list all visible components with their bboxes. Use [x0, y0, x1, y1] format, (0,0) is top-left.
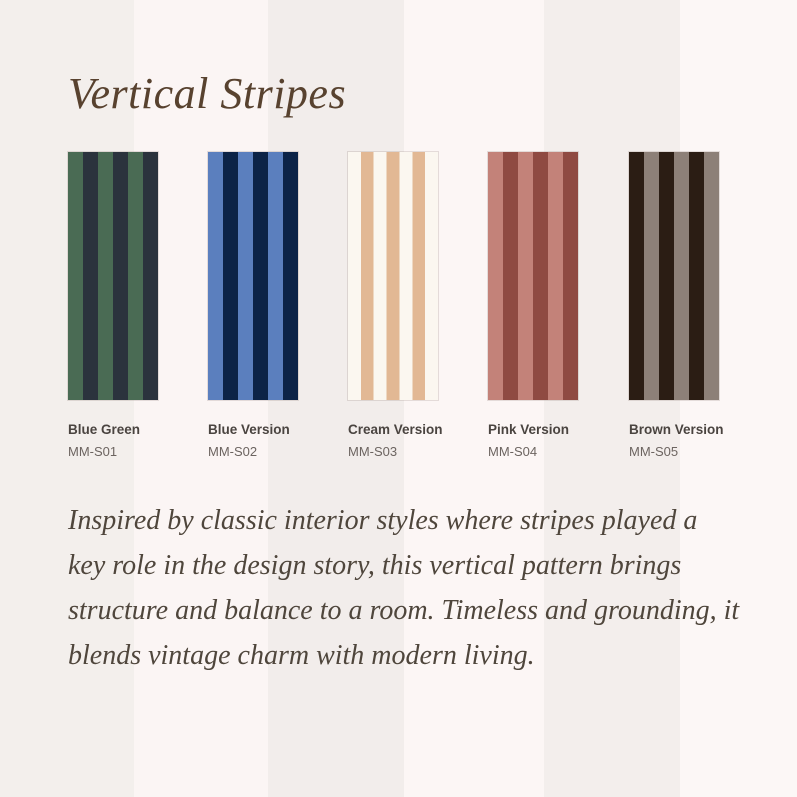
swatch-code: MM-S04 — [488, 444, 578, 459]
swatch-name: Blue Version — [208, 422, 298, 437]
swatch-name: Cream Version — [348, 422, 438, 437]
swatch-cell[interactable]: Blue VersionMM-S02 — [208, 152, 298, 459]
swatch-name: Pink Version — [488, 422, 578, 437]
swatch-code: MM-S03 — [348, 444, 438, 459]
swatch-code: MM-S01 — [68, 444, 158, 459]
description-paragraph: Inspired by classic interior styles wher… — [68, 498, 740, 678]
swatch-name: Blue Green — [68, 422, 158, 437]
swatch-cell[interactable]: Blue GreenMM-S01 — [68, 152, 158, 459]
swatch-cell[interactable]: Brown VersionMM-S05 — [629, 152, 719, 459]
swatch-stripe-chip[interactable] — [348, 152, 438, 400]
swatch-code: MM-S05 — [629, 444, 719, 459]
swatch-stripe-chip[interactable] — [488, 152, 578, 400]
swatch-row: Blue GreenMM-S01Blue VersionMM-S02Cream … — [68, 152, 740, 462]
swatch-stripe-chip[interactable] — [208, 152, 298, 400]
swatch-stripe-chip[interactable] — [629, 152, 719, 400]
stripes-catalog-page: Vertical Stripes Blue GreenMM-S01Blue Ve… — [0, 0, 797, 797]
swatch-stripe-chip[interactable] — [68, 152, 158, 400]
page-title: Vertical Stripes — [68, 68, 346, 119]
page-content: Vertical Stripes Blue GreenMM-S01Blue Ve… — [0, 0, 797, 797]
swatch-cell[interactable]: Cream VersionMM-S03 — [348, 152, 438, 459]
swatch-cell[interactable]: Pink VersionMM-S04 — [488, 152, 578, 459]
swatch-code: MM-S02 — [208, 444, 298, 459]
swatch-name: Brown Version — [629, 422, 719, 437]
